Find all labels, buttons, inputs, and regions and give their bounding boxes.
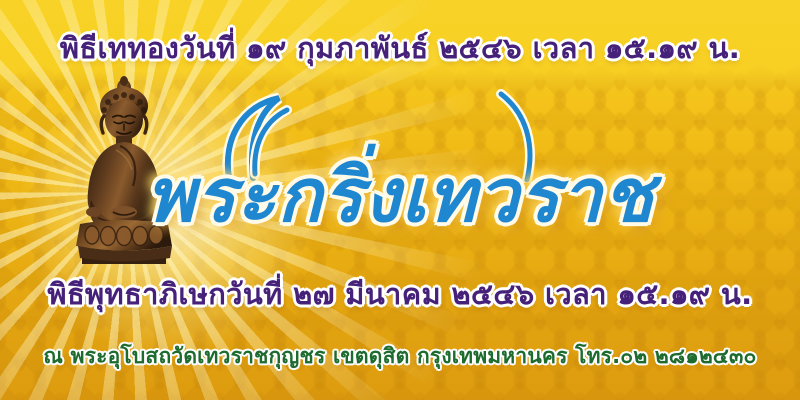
consecration-ceremony-line: พิธีพุทธาภิเษกวันที่ ๒๗ มีนาคม ๒๕๔๖ เวลา… bbox=[0, 280, 800, 309]
amulet-announcement-banner: พิธีเททองวันที่ ๑๙ กุมภาพันธ์ ๒๕๔๖ เวลา … bbox=[0, 0, 800, 400]
amulet-title-container: พระกริ่งเทวราช bbox=[0, 136, 800, 254]
amulet-title: พระกริ่งเทวราช bbox=[146, 136, 654, 254]
pouring-ceremony-line: พิธีเททองวันที่ ๑๙ กุมภาพันธ์ ๒๕๔๖ เวลา … bbox=[0, 34, 800, 63]
venue-contact-line: ณ พระอุโบสถวัดเทวราชกุญชร เขตดุสิต กรุงเ… bbox=[0, 346, 800, 367]
